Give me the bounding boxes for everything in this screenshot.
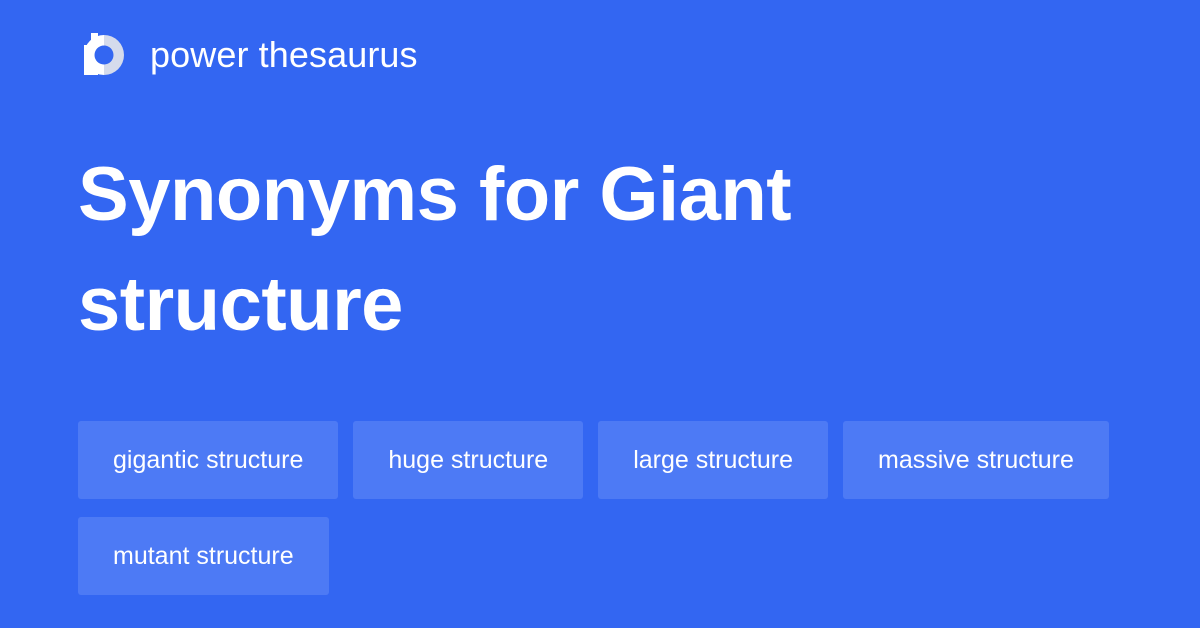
brand-header[interactable]: power thesaurus bbox=[78, 27, 418, 83]
brand-name: power thesaurus bbox=[150, 37, 418, 73]
synonym-chip[interactable]: large structure bbox=[598, 421, 828, 499]
page-title: Synonyms for Giant structure bbox=[78, 140, 978, 360]
synonym-chip[interactable]: massive structure bbox=[843, 421, 1109, 499]
power-thesaurus-logo-icon bbox=[78, 29, 130, 81]
synonym-chip[interactable]: gigantic structure bbox=[78, 421, 338, 499]
synonym-chip-list: gigantic structure huge structure large … bbox=[78, 421, 1138, 595]
synonym-chip[interactable]: mutant structure bbox=[78, 517, 329, 595]
synonym-chip[interactable]: huge structure bbox=[353, 421, 583, 499]
